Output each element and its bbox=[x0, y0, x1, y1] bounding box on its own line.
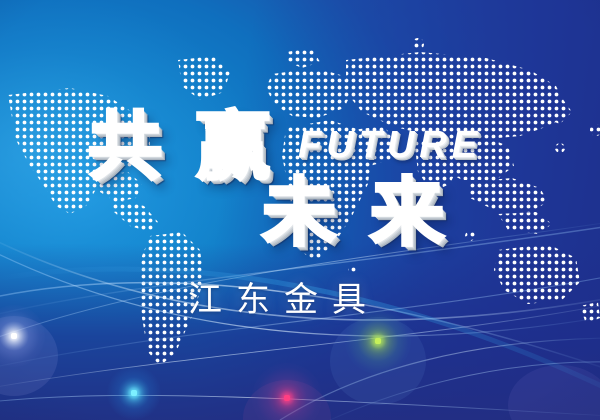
headline-block: 共 赢 FUTURE 未 来 江东金具 bbox=[0, 0, 600, 420]
headline-char-ying: 赢 bbox=[196, 112, 270, 183]
headline-char-lai: 来 bbox=[370, 178, 444, 249]
headline-char-gong: 共 bbox=[88, 112, 162, 183]
headline-latin-future: FUTURE bbox=[298, 124, 482, 167]
company-subtitle: 江东金具 bbox=[188, 272, 380, 321]
headline-row-2: 未 来 bbox=[262, 178, 444, 249]
promo-banner: 共 赢 FUTURE 未 来 江东金具 bbox=[0, 0, 600, 420]
headline-char-wei: 未 bbox=[262, 178, 336, 249]
